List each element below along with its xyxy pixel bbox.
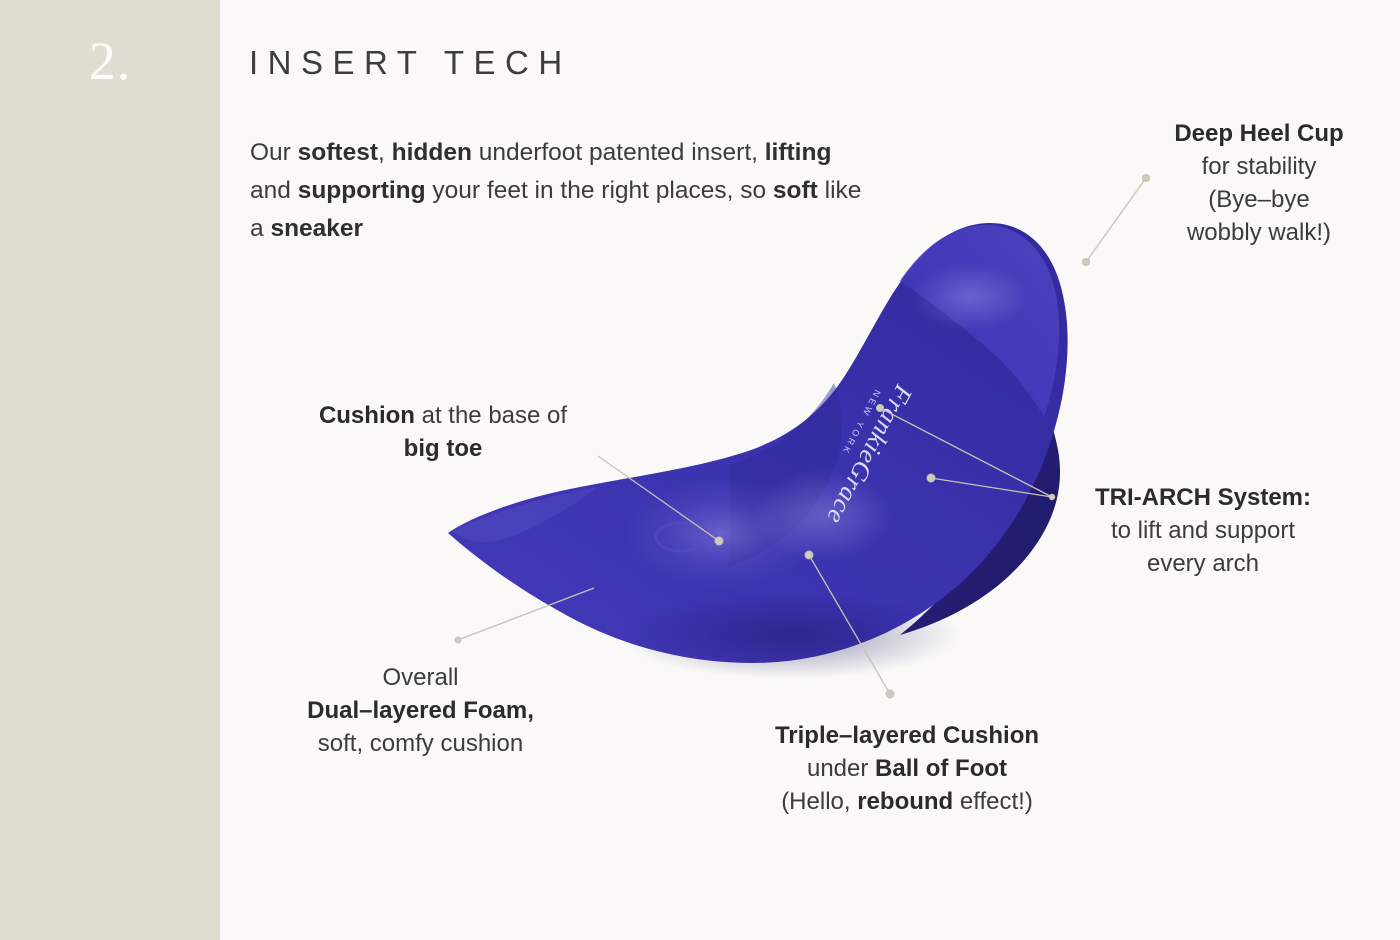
brand-logo-script: FrankieGrace NEW YORK xyxy=(809,373,919,529)
callout-triple-text-2: (Hello, xyxy=(781,788,857,815)
insole-sheen-ball xyxy=(626,477,818,589)
left-accent-rail: 2. xyxy=(0,0,220,940)
insole-dimple-bigtoe xyxy=(656,523,708,551)
callout-triple-text-3: effect!) xyxy=(953,788,1033,815)
intro-text-2: , xyxy=(378,139,392,166)
callout-big-toe-emph-2: big toe xyxy=(404,435,483,462)
callout-triple-layered-cushion: Triple–layered Cushion under Ball of Foo… xyxy=(722,720,1092,819)
callout-foam-line1: Overall xyxy=(258,662,583,695)
callout-deep-heel-cup-line1: for stability xyxy=(1128,151,1390,184)
callout-deep-heel-cup-line3: wobbly walk!) xyxy=(1128,217,1390,250)
intro-text-1: Our xyxy=(250,139,298,166)
callout-foam-emph: Dual–layered Foam, xyxy=(307,697,534,724)
page-title: INSERT TECH xyxy=(249,45,572,81)
callout-triple-line3: (Hello, rebound effect!) xyxy=(722,786,1092,819)
callout-tri-arch-title: TRI-ARCH System: xyxy=(1058,482,1348,515)
insole-sheen-midfoot xyxy=(752,469,892,561)
svg-text:FrankieGrace: FrankieGrace xyxy=(821,379,919,529)
callout-tri-arch-title-text: TRI-ARCH System: xyxy=(1095,484,1311,511)
callout-big-toe-text: at the base of xyxy=(415,402,567,429)
callout-dual-layered-foam: Overall Dual–layered Foam, soft, comfy c… xyxy=(258,662,583,761)
step-number: 2. xyxy=(0,34,220,88)
intro-paragraph: Our softest, hidden underfoot patented i… xyxy=(250,134,870,248)
leader-line-big-toe xyxy=(598,456,723,545)
leader-line-tri-arch-lower xyxy=(927,474,1054,499)
slide-canvas: 2. INSERT TECH Our softest, hidden under… xyxy=(0,0,1400,940)
leader-line-triple-cushion xyxy=(805,551,894,698)
intro-emph-soft: soft xyxy=(773,177,818,204)
leader-line-tri-arch-upper xyxy=(877,405,1052,497)
intro-emph-softest: softest xyxy=(298,139,378,166)
intro-emph-lifting: lifting xyxy=(765,139,832,166)
intro-text-3: underfoot patented insert, xyxy=(472,139,765,166)
callout-foam-line3: soft, comfy cushion xyxy=(258,728,583,761)
intro-emph-supporting: supporting xyxy=(298,177,426,204)
callout-cushion-big-toe: Cushion at the base of big toe xyxy=(278,400,608,466)
callout-triple-line2: under Ball of Foot xyxy=(722,753,1092,786)
callout-big-toe-line1: Cushion at the base of xyxy=(278,400,608,433)
callout-deep-heel-cup-title-text: Deep Heel Cup xyxy=(1174,120,1343,147)
insole-shadow-underfoot xyxy=(620,591,960,679)
callout-deep-heel-cup-title: Deep Heel Cup xyxy=(1128,118,1390,151)
intro-text-4: and xyxy=(250,177,298,204)
callout-deep-heel-cup: Deep Heel Cup for stability (Bye–bye wob… xyxy=(1128,118,1390,250)
callout-deep-heel-cup-line2: (Bye–bye xyxy=(1128,184,1390,217)
leader-line-dual-foam xyxy=(455,588,594,643)
insole-sheen-heel xyxy=(912,263,1028,331)
insole-sidewall xyxy=(900,335,1060,635)
svg-text:NEW YORK: NEW YORK xyxy=(840,388,883,457)
insole-toe-highlight xyxy=(452,487,598,542)
callout-big-toe-line2: big toe xyxy=(278,433,608,466)
callout-foam-line2: Dual–layered Foam, xyxy=(258,695,583,728)
callout-big-toe-emph: Cushion xyxy=(319,402,415,429)
callout-triple-text-1: under xyxy=(807,755,875,782)
callout-triple-emph-2: Ball of Foot xyxy=(875,755,1007,782)
callout-tri-arch-line2: every arch xyxy=(1058,548,1348,581)
callout-triple-line1: Triple–layered Cushion xyxy=(722,720,1092,753)
intro-text-5: your feet in the right places, so xyxy=(426,177,773,204)
callout-tri-arch-system: TRI-ARCH System: to lift and support eve… xyxy=(1058,482,1348,581)
callout-triple-emph-3: rebound xyxy=(857,788,953,815)
intro-emph-sneaker: sneaker xyxy=(270,215,363,242)
insole-arch-shadow xyxy=(728,383,842,567)
insole-heel-cup xyxy=(900,225,1059,417)
intro-emph-hidden: hidden xyxy=(392,139,472,166)
callout-tri-arch-line1: to lift and support xyxy=(1058,515,1348,548)
callout-triple-emph: Triple–layered Cushion xyxy=(775,722,1039,749)
